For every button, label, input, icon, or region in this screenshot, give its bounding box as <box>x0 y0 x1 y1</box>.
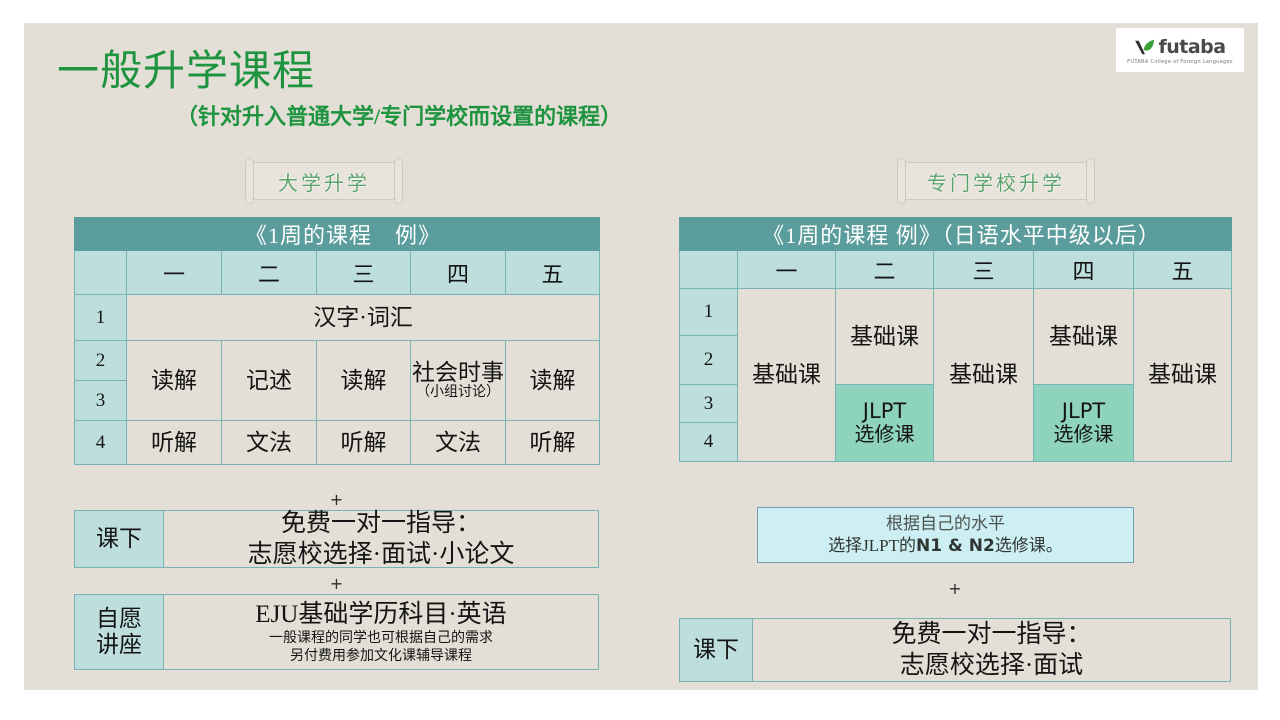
right-col-fri: 五 <box>1134 251 1232 289</box>
ribbon-right-label: 专门学校升学 <box>927 167 1065 196</box>
right-col-mon: 一 <box>738 251 836 289</box>
right-cell-thu-jlpt-en: JLPT <box>1034 399 1133 424</box>
callout-line2-c: 选修课。 <box>995 536 1063 555</box>
table-row: 4 听解 文法 听解 文法 听解 <box>75 421 600 465</box>
left-period-4: 4 <box>75 421 127 465</box>
leaf-checkmark-icon <box>1134 38 1156 56</box>
table-caption-row: 《1周的课程 例》 <box>75 218 600 251</box>
left-cell-fri-reading: 读解 <box>506 341 600 421</box>
left-box1-line2: 志愿校选择·面试·小论文 <box>248 539 515 570</box>
table-header-row: 一 二 三 四 五 <box>75 251 600 295</box>
left-box1-label: 课下 <box>75 511 164 567</box>
left-box-tutoring: 课下 免费一对一指导： 志愿校选择·面试·小论文 <box>74 510 599 568</box>
right-period-1: 1 <box>680 289 738 336</box>
table-header-row: 一 二 三 四 五 <box>680 251 1232 289</box>
left-plus-separator-2: + <box>74 574 599 593</box>
right-cell-wed-base: 基础课 <box>934 289 1034 462</box>
left-box2-note2: 另付费用参加文化课辅导课程 <box>290 648 472 666</box>
left-period-1: 1 <box>75 295 127 341</box>
left-col-wed: 三 <box>317 251 411 295</box>
slide-canvas: 一般升学课程 （针对升入普通大学/专门学校而设置的课程） futaba FUTA… <box>24 23 1258 690</box>
left-box2-label-line1: 自愿 <box>96 606 142 632</box>
left-box1-body: 免费一对一指导： 志愿校选择·面试·小论文 <box>164 511 598 567</box>
ribbon-vocational-track: 专门学校升学 <box>900 162 1092 200</box>
left-box-eju-lectures: 自愿 讲座 EJU基础学历科目·英语 一般课程的同学也可根据自己的需求 另付费用… <box>74 594 599 670</box>
right-period-3: 3 <box>680 385 738 423</box>
left-cell-thu-current-affairs: 社会时事 （小组讨论） <box>411 341 506 421</box>
callout-line1: 根据自己的水平 <box>886 513 1005 535</box>
right-box1-body: 免费一对一指导： 志愿校选择·面试 <box>753 619 1230 681</box>
right-plus-separator-1: + <box>679 579 1231 598</box>
callout-line2-a: 选择JLPT的 <box>828 536 916 555</box>
left-box2-line1: EJU基础学历科目·英语 <box>255 599 506 630</box>
right-period-4: 4 <box>680 423 738 462</box>
right-col-tue: 二 <box>836 251 934 289</box>
right-box1-line1: 免费一对一指导： <box>891 619 1091 650</box>
left-cell-wed-listening: 听解 <box>317 421 411 465</box>
left-period-3: 3 <box>75 381 127 421</box>
table-row: 2 读解 记述 读解 社会时事 （小组讨论） 读解 <box>75 341 600 381</box>
left-box2-note1: 一般课程的同学也可根据自己的需求 <box>269 630 493 648</box>
right-table-caption: 《1周的课程 例》（日语水平中级以后） <box>680 218 1232 251</box>
right-col-wed: 三 <box>934 251 1034 289</box>
right-box1-line2: 志愿校选择·面试 <box>900 650 1083 681</box>
left-cell-thu-grammar: 文法 <box>411 421 506 465</box>
page-title: 一般升学课程 <box>57 37 315 98</box>
left-cell-wed-reading: 读解 <box>317 341 411 421</box>
left-cell-thu-sub: （小组讨论） <box>411 385 505 401</box>
right-cell-tue-jlpt-cn: 选修课 <box>836 424 933 448</box>
page-subtitle: （针对升入普通大学/专门学校而设置的课程） <box>176 99 622 131</box>
left-plus-separator-1: + <box>74 490 599 509</box>
left-box2-label: 自愿 讲座 <box>75 595 164 669</box>
right-period-2: 2 <box>680 336 738 385</box>
table-row: 1 汉字·词汇 <box>75 295 600 341</box>
ribbon-university-track: 大学升学 <box>248 162 400 200</box>
left-box2-label-line2: 讲座 <box>96 632 142 658</box>
left-weekly-schedule-table: 《1周的课程 例》 一 二 三 四 五 1 汉字·词汇 2 读解 记述 读解 社… <box>74 217 600 465</box>
left-cell-mon-reading: 读解 <box>127 341 222 421</box>
left-box2-body: EJU基础学历科目·英语 一般课程的同学也可根据自己的需求 另付费用参加文化课辅… <box>164 595 598 669</box>
table-row: 1 基础课 基础课 基础课 基础课 基础课 <box>680 289 1232 336</box>
right-box-tutoring: 课下 免费一对一指导： 志愿校选择·面试 <box>679 618 1231 682</box>
left-cell-tue-grammar: 文法 <box>222 421 317 465</box>
right-cell-thu-jlpt-cn: 选修课 <box>1034 424 1133 448</box>
left-cell-mon-listening: 听解 <box>127 421 222 465</box>
callout-line2: 选择JLPT的N1 & N2选修课。 <box>828 535 1063 557</box>
logo-tagline: FUTABA College of Foreign Languages <box>1127 59 1233 65</box>
left-cell-thu-main: 社会时事 <box>412 360 504 385</box>
right-weekly-schedule-table: 《1周的课程 例》（日语水平中级以后） 一 二 三 四 五 1 基础课 基础课 … <box>679 217 1232 462</box>
right-cell-tue-jlpt-en: JLPT <box>836 399 933 424</box>
callout-line2-levels: N1 & N2 <box>916 536 995 556</box>
futaba-logo: futaba FUTABA College of Foreign Languag… <box>1116 28 1244 72</box>
left-col-tue: 二 <box>222 251 317 295</box>
left-col-blank <box>75 251 127 295</box>
right-col-thu: 四 <box>1034 251 1134 289</box>
left-period-2: 2 <box>75 341 127 381</box>
right-cell-tue-jlpt: JLPT 选修课 <box>836 385 934 462</box>
left-cell-fri-listening: 听解 <box>506 421 600 465</box>
right-cell-mon-base: 基础课 <box>738 289 836 462</box>
table-caption-row: 《1周的课程 例》（日语水平中级以后） <box>680 218 1232 251</box>
right-col-blank <box>680 251 738 289</box>
ribbon-left-label: 大学升学 <box>278 167 370 196</box>
left-cell-kanji-vocab: 汉字·词汇 <box>127 295 600 341</box>
left-col-thu: 四 <box>411 251 506 295</box>
left-table-caption: 《1周的课程 例》 <box>75 218 600 251</box>
left-col-fri: 五 <box>506 251 600 295</box>
left-cell-tue-writing: 记述 <box>222 341 317 421</box>
right-box1-label: 课下 <box>680 619 753 681</box>
left-box1-line1: 免费一对一指导： <box>281 508 481 539</box>
left-col-mon: 一 <box>127 251 222 295</box>
right-cell-thu-base: 基础课 <box>1034 289 1134 385</box>
right-cell-tue-base: 基础课 <box>836 289 934 385</box>
right-cell-fri-base: 基础课 <box>1134 289 1232 462</box>
jlpt-elective-callout: 根据自己的水平 选择JLPT的N1 & N2选修课。 <box>757 507 1134 563</box>
right-cell-thu-jlpt: JLPT 选修课 <box>1034 385 1134 462</box>
logo-wordmark: futaba <box>1158 36 1225 58</box>
